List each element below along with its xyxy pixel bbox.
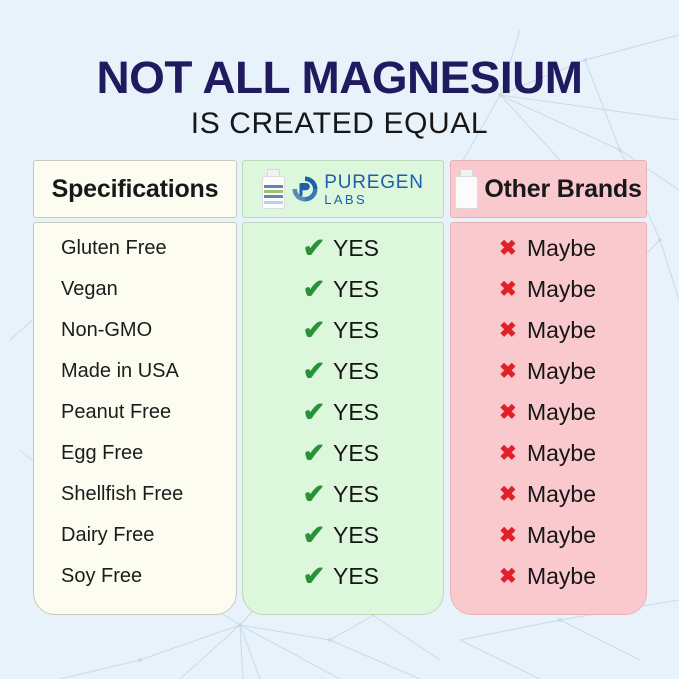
header-specifications: Specifications — [33, 160, 237, 218]
table-row: ✖ Maybe — [451, 310, 646, 351]
brand-value: YES — [333, 563, 379, 590]
spec-label: Dairy Free — [61, 524, 154, 547]
check-icon: ✔ — [301, 235, 327, 262]
other-value: Maybe — [527, 276, 596, 303]
table-row: ✔ YES — [243, 269, 443, 310]
brand-value: YES — [333, 399, 379, 426]
other-value: Maybe — [527, 481, 596, 508]
plain-white-bottle-icon — [455, 169, 478, 209]
table-row: Gluten Free — [34, 228, 236, 269]
other-value: Maybe — [527, 563, 596, 590]
cross-icon: ✖ — [495, 484, 521, 505]
table-row: ✖ Maybe — [451, 228, 646, 269]
puregen-logo: PUREGEN LABS — [291, 173, 424, 206]
other-value: Maybe — [527, 235, 596, 262]
table-row: ✔ YES — [243, 351, 443, 392]
table-row: ✔ YES — [243, 515, 443, 556]
other-value: Maybe — [527, 522, 596, 549]
table-row: ✖ Maybe — [451, 556, 646, 597]
spec-label: Peanut Free — [61, 401, 171, 424]
table-row: Made in USA — [34, 351, 236, 392]
table-row: ✖ Maybe — [451, 515, 646, 556]
puregen-monogram-icon — [291, 175, 319, 203]
cross-icon: ✖ — [495, 402, 521, 423]
table-row: ✔ YES — [243, 556, 443, 597]
body-other-brands: ✖ Maybe ✖ Maybe ✖ Maybe ✖ Maybe ✖ Maybe … — [450, 222, 647, 615]
check-icon: ✔ — [301, 563, 327, 590]
cross-icon: ✖ — [495, 361, 521, 382]
table-row: ✖ Maybe — [451, 474, 646, 515]
brand-value: YES — [333, 317, 379, 344]
page-title: NOT ALL MAGNESIUM — [0, 54, 679, 102]
cross-icon: ✖ — [495, 443, 521, 464]
table-row: Non-GMO — [34, 310, 236, 351]
headline-block: NOT ALL MAGNESIUM IS CREATED EQUAL — [0, 54, 679, 142]
other-value: Maybe — [527, 358, 596, 385]
cross-icon: ✖ — [495, 525, 521, 546]
table-row: ✔ YES — [243, 433, 443, 474]
spec-label: Gluten Free — [61, 237, 167, 260]
header-specifications-label: Specifications — [52, 175, 219, 204]
other-value: Maybe — [527, 399, 596, 426]
other-value: Maybe — [527, 317, 596, 344]
table-row: ✖ Maybe — [451, 433, 646, 474]
table-row: Dairy Free — [34, 515, 236, 556]
other-value: Maybe — [527, 440, 596, 467]
check-icon: ✔ — [301, 440, 327, 467]
comparison-table: Specifications Gluten Free Vegan Non-GMO… — [33, 160, 647, 615]
brand-value: YES — [333, 358, 379, 385]
spec-label: Soy Free — [61, 565, 142, 588]
table-row: ✖ Maybe — [451, 269, 646, 310]
header-other-brands: Other Brands — [450, 160, 647, 218]
spec-label: Made in USA — [61, 360, 179, 383]
header-puregen-labs: PUREGEN LABS — [242, 160, 444, 218]
check-icon: ✔ — [301, 317, 327, 344]
check-icon: ✔ — [301, 399, 327, 426]
brand-value: YES — [333, 235, 379, 262]
table-row: ✔ YES — [243, 310, 443, 351]
page-subtitle: IS CREATED EQUAL — [0, 106, 679, 142]
check-icon: ✔ — [301, 522, 327, 549]
supplement-bottle-icon — [262, 169, 285, 209]
body-puregen-labs: ✔ YES ✔ YES ✔ YES ✔ YES ✔ YES ✔ YES — [242, 222, 444, 615]
puregen-logo-sub: LABS — [324, 193, 424, 206]
spec-label: Non-GMO — [61, 319, 152, 342]
table-row: Soy Free — [34, 556, 236, 597]
spec-label: Egg Free — [61, 442, 143, 465]
brand-value: YES — [333, 276, 379, 303]
cross-icon: ✖ — [495, 238, 521, 259]
check-icon: ✔ — [301, 276, 327, 303]
table-row: ✔ YES — [243, 228, 443, 269]
header-other-brands-label: Other Brands — [484, 175, 641, 204]
table-row: ✖ Maybe — [451, 351, 646, 392]
body-specifications: Gluten Free Vegan Non-GMO Made in USA Pe… — [33, 222, 237, 615]
spec-label: Shellfish Free — [61, 483, 183, 506]
table-row: Peanut Free — [34, 392, 236, 433]
spec-label: Vegan — [61, 278, 118, 301]
brand-value: YES — [333, 522, 379, 549]
table-row: ✔ YES — [243, 474, 443, 515]
table-row: Shellfish Free — [34, 474, 236, 515]
table-row: ✔ YES — [243, 392, 443, 433]
table-row: ✖ Maybe — [451, 392, 646, 433]
cross-icon: ✖ — [495, 566, 521, 587]
puregen-logo-word: PUREGEN — [324, 173, 424, 192]
cross-icon: ✖ — [495, 279, 521, 300]
table-row: Vegan — [34, 269, 236, 310]
brand-value: YES — [333, 440, 379, 467]
table-row: Egg Free — [34, 433, 236, 474]
cross-icon: ✖ — [495, 320, 521, 341]
check-icon: ✔ — [301, 358, 327, 385]
check-icon: ✔ — [301, 481, 327, 508]
brand-value: YES — [333, 481, 379, 508]
